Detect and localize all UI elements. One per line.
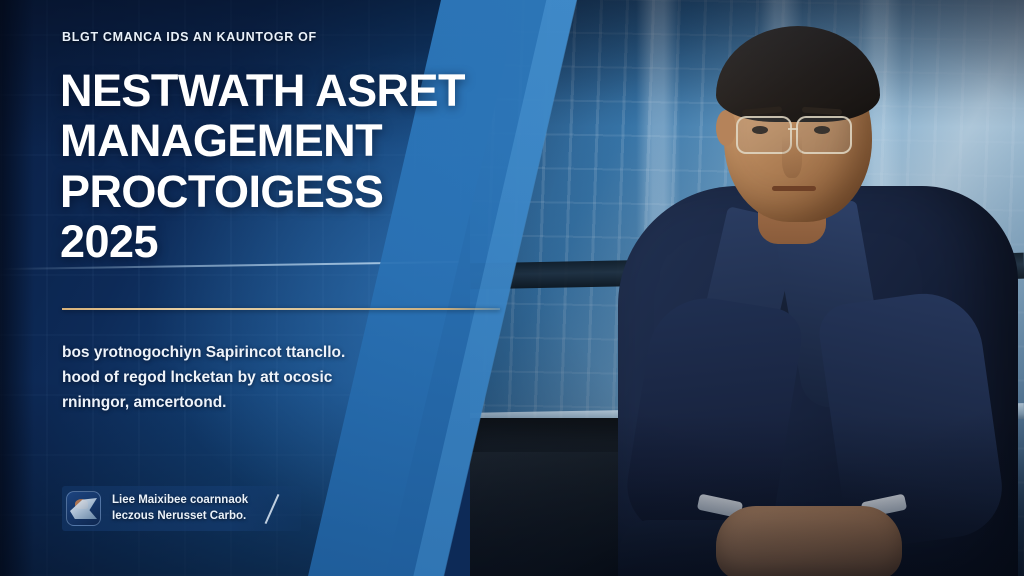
headline-line-1: NESTWATH ASRET [60,66,560,116]
headline-line-4: 2025 [60,217,560,267]
footer-badge[interactable]: Liee Maixibee coarnnaok Ieczous Nerusset… [62,486,301,531]
banner-content: BLGT CMANCA IDS AN KAUNTOGR OF NESTWATH … [62,0,492,576]
badge-line-1: Liee Maixibee coarnnaok [112,494,248,506]
eyebrow-text: BLGT CMANCA IDS AN KAUNTOGR OF [62,30,317,44]
diagonal-slash-icon [259,494,285,524]
logo-swoosh-shape [70,498,97,519]
swoosh-logo-icon [66,491,101,526]
gold-divider-rule [62,308,500,310]
page-title: NESTWATH ASRET MANAGEMENT PROCTOIGESS 20… [60,66,560,268]
body-paragraph: bos yrotnogochiyn Sapirincot ttancllo. h… [62,340,462,415]
headline-line-2: MANAGEMENT [60,116,560,166]
left-edge-shadow [0,0,34,576]
body-line-3: rninngor, amcertoond. [62,394,226,411]
headline-line-3: PROCTOIGESS [60,167,560,217]
badge-line-2: Ieczous Nerusset Carbo. [112,510,246,522]
body-line-2: hood of regod lncketan by att ocosic [62,369,332,386]
body-line-1: bos yrotnogochiyn Sapirincot ttancllo. [62,344,345,361]
badge-text-block: Liee Maixibee coarnnaok Ieczous Nerusset… [112,493,248,525]
promotional-banner: BLGT CMANCA IDS AN KAUNTOGR OF NESTWATH … [0,0,1024,576]
